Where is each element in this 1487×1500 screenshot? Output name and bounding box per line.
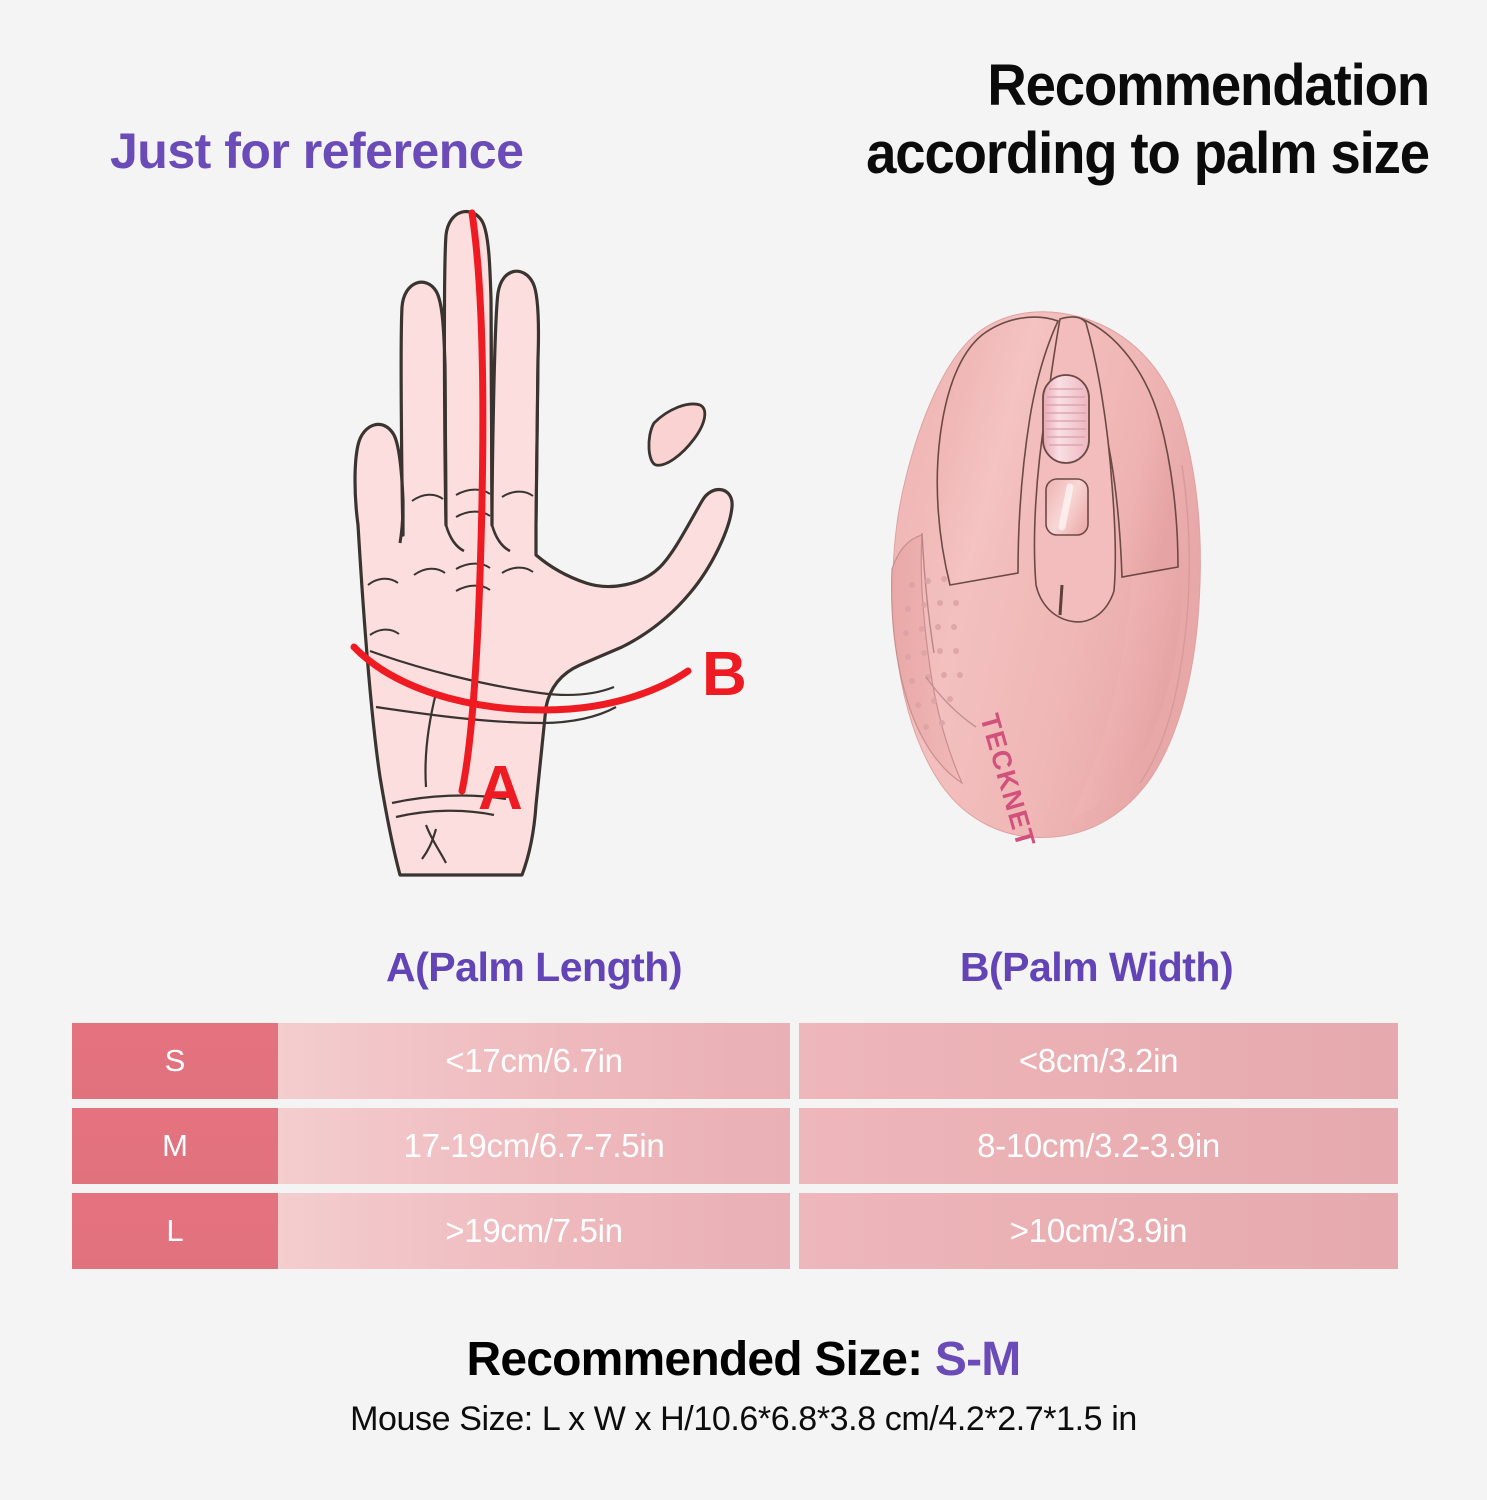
table-row: S <17cm/6.7in <8cm/3.2in <box>72 1023 1398 1099</box>
palm-length-value-l: >19cm/7.5in <box>278 1193 790 1269</box>
recommended-size-line: Recommended Size: S-M <box>0 1332 1487 1387</box>
mouse-product-image: TECKNET <box>830 285 1270 875</box>
size-label-m: M <box>72 1108 278 1184</box>
page-title-line-1: Recommendation <box>715 52 1429 120</box>
column-header-palm-length: A(Palm Length) <box>278 944 790 991</box>
table-row: M 17-19cm/6.7-7.5in 8-10cm/3.2-3.9in <box>72 1108 1398 1184</box>
column-gap <box>790 1193 799 1269</box>
size-label-s: S <box>72 1023 278 1099</box>
palm-width-value-s: <8cm/3.2in <box>799 1023 1398 1099</box>
hand-measurement-diagram: B A <box>250 195 770 895</box>
reference-heading: Just for reference <box>110 122 523 180</box>
palm-width-value-m: 8-10cm/3.2-3.9in <box>799 1108 1398 1184</box>
page-title: Recommendation according to palm size <box>715 52 1429 189</box>
palm-width-value-l: >10cm/3.9in <box>799 1193 1398 1269</box>
column-header-palm-width: B(Palm Width) <box>795 944 1398 991</box>
column-gap <box>790 1023 799 1099</box>
mouse-dpi-button <box>1046 479 1088 535</box>
page-title-line-2: according to palm size <box>715 120 1429 188</box>
column-gap <box>790 1108 799 1184</box>
palm-length-value-m: 17-19cm/6.7-7.5in <box>278 1108 790 1184</box>
hand-shape <box>355 212 732 875</box>
mouse-scroll-wheel <box>1043 375 1089 463</box>
size-recommendation-table: S <17cm/6.7in <8cm/3.2in M 17-19cm/6.7-7… <box>72 1023 1398 1278</box>
table-row: L >19cm/7.5in >10cm/3.9in <box>72 1193 1398 1269</box>
mouse-dimensions-line: Mouse Size: L x W x H/10.6*6.8*3.8 cm/4.… <box>0 1400 1487 1439</box>
recommended-size-label: Recommended Size: <box>467 1333 935 1386</box>
size-label-l: L <box>72 1193 278 1269</box>
recommended-size-value: S-M <box>935 1333 1021 1386</box>
mouse-center-seam <box>1060 585 1062 615</box>
palm-length-value-s: <17cm/6.7in <box>278 1023 790 1099</box>
hand-label-b: B <box>702 640 747 709</box>
hand-label-a: A <box>478 754 523 823</box>
